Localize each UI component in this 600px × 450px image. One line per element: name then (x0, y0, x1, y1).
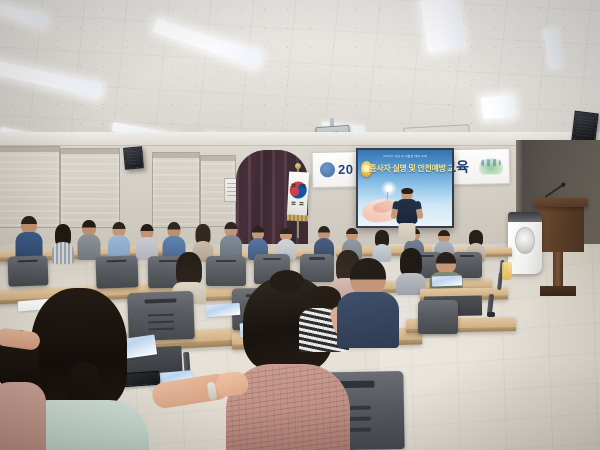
chair-handle (263, 258, 280, 260)
trigram-4 (301, 186, 305, 187)
list-item (338, 258, 398, 344)
chair[interactable] (95, 255, 138, 288)
attendee-torso (337, 292, 399, 348)
table-caster (487, 312, 495, 317)
wall-speaker-left (123, 146, 144, 170)
attendee-hand (215, 370, 249, 397)
list-item (108, 222, 130, 258)
trigram-3 (301, 184, 305, 185)
chair[interactable] (7, 255, 48, 286)
chair[interactable] (418, 300, 458, 334)
portable-speaker-unit (508, 212, 542, 274)
window-blind-3[interactable] (152, 152, 200, 228)
presenter (392, 188, 422, 242)
attendee-head (436, 252, 456, 274)
slide-title: 종사자 실명 및 안전예방 교육 (369, 163, 447, 174)
banner-emblem-icon (320, 162, 335, 177)
presenter-pants (399, 223, 416, 241)
trigram-6 (291, 204, 295, 205)
attendee-torso (78, 234, 101, 260)
attendee-torso (0, 382, 46, 450)
ceiling (0, 0, 600, 150)
flag-finial-icon (295, 163, 301, 169)
trigram-8 (299, 204, 303, 205)
attendee-torso (52, 242, 74, 264)
seminar-room-photo: 20 교육 2023년 직장 내 괴롭힘 예방 교육 종사자 실명 및 안전예방… (0, 0, 600, 450)
attendee-hair (400, 248, 422, 276)
attendee-head (350, 258, 386, 296)
podium-body (538, 204, 584, 252)
ceiling-light-5 (481, 94, 515, 119)
chair-handle (309, 257, 325, 259)
ceiling-texture (0, 0, 600, 150)
trigram-5 (292, 202, 296, 203)
wall-soffit (0, 132, 600, 146)
podium-top (534, 198, 588, 207)
korean-flag (287, 172, 309, 217)
list-item (78, 220, 100, 258)
slide-footer: · · · · · (428, 217, 446, 221)
speaker-grill (126, 150, 140, 165)
trigram-1 (291, 184, 295, 185)
list-item (136, 224, 158, 258)
list-item (52, 224, 74, 260)
list-item (396, 248, 426, 290)
chair-handle (106, 259, 126, 262)
taeguk-symbol (287, 179, 309, 202)
trigram-2 (291, 186, 295, 187)
list-item (220, 222, 242, 258)
seminar-brochure[interactable] (432, 275, 462, 286)
chair-handle (216, 260, 235, 262)
drink-bottle[interactable] (502, 262, 512, 280)
podium-base (540, 286, 576, 296)
trigram-7 (300, 202, 304, 203)
banner-logo-icon (479, 158, 503, 174)
speaker-cone-icon (515, 227, 535, 254)
list-item (16, 216, 42, 258)
banner-text-left: 20 (338, 162, 354, 177)
chair-handle (18, 259, 37, 262)
slide-subtitle: 2023년 직장 내 괴롭힘 예방 교육 (364, 155, 447, 162)
flag-fringe (287, 214, 308, 221)
list-item (372, 230, 391, 258)
wall-speaker-right (571, 111, 598, 144)
ceiling-light-4 (420, 0, 464, 52)
attendee-hair (176, 252, 202, 286)
window-blind-2[interactable] (60, 148, 120, 228)
speaker-top-panel (508, 212, 542, 222)
speaker-grill (575, 116, 594, 138)
list-item (172, 252, 206, 296)
presenter-hair (401, 188, 413, 194)
chair-handle (145, 298, 177, 303)
